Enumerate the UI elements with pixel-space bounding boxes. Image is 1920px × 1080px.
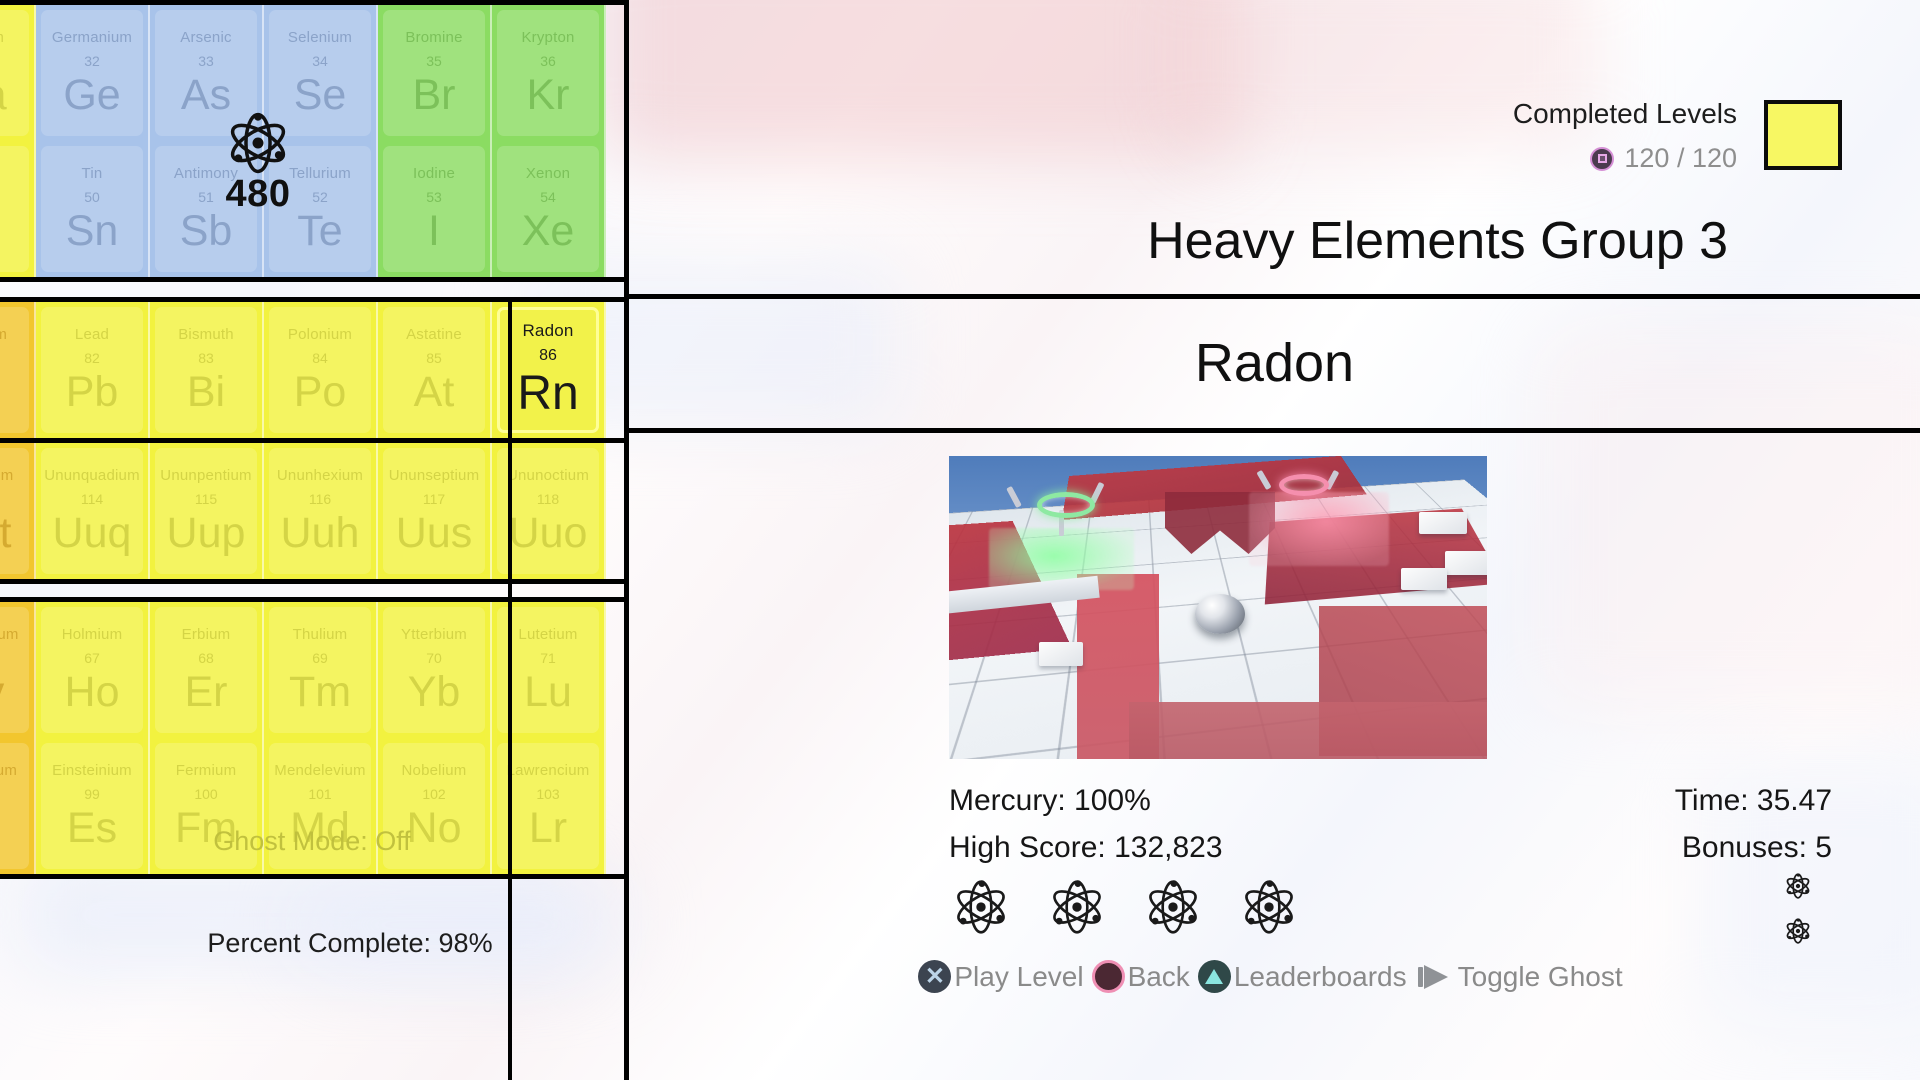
element-number: 70 <box>426 651 442 665</box>
element-name: Lead <box>75 327 109 342</box>
level-preview-thumbnail[interactable] <box>949 456 1487 759</box>
element-number: 114 <box>81 492 103 506</box>
earned-atom-icon <box>1143 877 1203 942</box>
ps-square-button-icon <box>1590 147 1614 171</box>
element-number: 34 <box>312 54 328 68</box>
stat-high-score: High Score: 132,823 <box>949 833 1223 863</box>
element-band: Gallium31GaGermanium32GeArsenic33AsSelen… <box>0 0 624 282</box>
element-number: 82 <box>84 351 100 365</box>
earned-atom-icon <box>1239 877 1299 942</box>
stat-time: Time: 35.47 <box>1675 786 1832 816</box>
completed-levels-count: 120 / 120 <box>1624 145 1737 172</box>
element-cell-es[interactable]: Einsteinium99Es <box>36 738 150 874</box>
element-name: Xenon <box>526 166 570 181</box>
element-number: 36 <box>540 54 556 68</box>
element-symbol: Xe <box>522 210 575 253</box>
element-number: 115 <box>195 492 217 506</box>
preview-pink-ring <box>1279 474 1329 496</box>
preview-floating-cube <box>1419 512 1467 534</box>
element-number: 50 <box>84 190 100 204</box>
element-symbol: Se <box>294 74 347 117</box>
element-number: 100 <box>194 787 217 801</box>
prompt-label: Play Level <box>954 963 1083 991</box>
cross-button-icon: ✕ <box>918 960 951 993</box>
element-name: Ununseptium <box>389 468 480 483</box>
element-symbol: Fm <box>175 807 237 850</box>
element-name: Ununtrium <box>0 468 14 483</box>
element-symbol: Dy <box>0 671 4 714</box>
element-name: Californium <box>0 763 17 778</box>
element-cell-te[interactable]: Tellurium52Te <box>264 141 378 277</box>
element-cell-ho[interactable]: Holmium67Ho <box>36 602 150 738</box>
element-cell-ge[interactable]: Germanium32Ge <box>36 5 150 141</box>
element-number: 116 <box>309 492 331 506</box>
element-row: Ununtrium113UutUnunquadium114UuqUnunpent… <box>0 443 624 579</box>
element-cell-fm[interactable]: Fermium100Fm <box>150 738 264 874</box>
element-cell-se[interactable]: Selenium34Se <box>264 5 378 141</box>
element-symbol: Sn <box>66 210 119 253</box>
preview-tile-block <box>1129 702 1487 759</box>
element-cell-pb[interactable]: Lead82Pb <box>36 302 150 438</box>
element-cell-md[interactable]: Mendelevium101Md <box>264 738 378 874</box>
element-number: 35 <box>426 54 442 68</box>
earned-atoms-row <box>951 877 1299 942</box>
element-symbol: Ge <box>63 74 120 117</box>
atom-icon <box>1143 877 1203 937</box>
group-title: Heavy Elements Group 3 <box>1147 215 1728 267</box>
element-symbol: Pb <box>66 371 119 414</box>
element-row: Californium98CfEinsteinium99EsFermium100… <box>0 738 624 874</box>
element-cell-ga[interactable]: Gallium31Ga <box>0 5 36 141</box>
element-name: Krypton <box>521 30 574 45</box>
element-cell-at[interactable]: Astatine85At <box>378 302 492 438</box>
prompt-back[interactable]: Back <box>1092 960 1190 993</box>
preview-floating-cube <box>1401 568 1447 590</box>
prompt-toggle-ghost[interactable]: Toggle Ghost <box>1415 963 1623 991</box>
element-number: 69 <box>312 651 328 665</box>
element-cell-uup[interactable]: Ununpentium115Uup <box>150 443 264 579</box>
atom-icon <box>1239 877 1299 937</box>
element-number: 84 <box>312 351 328 365</box>
element-number: 102 <box>422 787 445 801</box>
element-cell-kr[interactable]: Krypton36Kr <box>492 5 606 141</box>
element-number: 51 <box>198 190 214 204</box>
header-divider-top <box>629 294 1920 299</box>
element-cell-bi[interactable]: Bismuth83Bi <box>150 302 264 438</box>
element-symbol: Er <box>185 671 228 714</box>
stat-bonuses: Bonuses: 5 <box>1682 833 1832 863</box>
element-name: Tin <box>82 166 103 181</box>
element-cell-xe[interactable]: Xenon54Xe <box>492 141 606 277</box>
element-cell-sb[interactable]: Antimony51Sb <box>150 141 264 277</box>
element-cell-in[interactable]: Indium49In <box>0 141 36 277</box>
element-cell-tl[interactable]: Thallium81Tl <box>0 302 36 438</box>
button-prompt-bar: ✕Play LevelBackLeaderboardsToggle Ghost <box>629 960 1920 993</box>
element-cell-uuh[interactable]: Ununhexium116Uuh <box>264 443 378 579</box>
element-symbol: Uus <box>396 512 472 555</box>
element-number: 103 <box>536 787 559 801</box>
header-divider-bottom <box>629 428 1920 433</box>
triangle-button-icon <box>1198 960 1231 993</box>
element-band: Thallium81TlLead82PbBismuth83BiPolonium8… <box>0 297 624 443</box>
element-name: Thallium <box>0 327 7 342</box>
element-cell-yb[interactable]: Ytterbium70Yb <box>378 602 492 738</box>
element-symbol: Uuh <box>281 512 360 555</box>
element-symbol: Sb <box>180 210 233 253</box>
prompt-label: Toggle Ghost <box>1458 963 1623 991</box>
completed-levels-block: Completed Levels 120 / 120 <box>1513 100 1737 172</box>
element-symbol: As <box>181 74 231 117</box>
element-cell-sn[interactable]: Tin50Sn <box>36 141 150 277</box>
element-number: 67 <box>84 651 100 665</box>
atom-icon <box>1784 872 1812 900</box>
element-number: 33 <box>198 54 214 68</box>
element-number: 86 <box>539 348 557 364</box>
element-number: 99 <box>84 787 100 801</box>
element-number: 118 <box>537 492 559 506</box>
element-name: Fermium <box>176 763 237 778</box>
panel-divider <box>624 0 629 1080</box>
completed-levels-count-row: 120 / 120 <box>1513 145 1737 172</box>
element-band: Ununtrium113UutUnunquadium114UuqUnunpent… <box>0 438 624 584</box>
element-symbol: Te <box>297 210 342 253</box>
element-cell-no[interactable]: Nobelium102No <box>378 738 492 874</box>
completed-levels-label: Completed Levels <box>1513 100 1737 128</box>
element-name: Holmium <box>62 627 123 642</box>
element-cell-i[interactable]: Iodine53I <box>378 141 492 277</box>
element-name: Thulium <box>293 627 348 642</box>
element-name: Gallium <box>0 30 4 45</box>
element-symbol: Md <box>290 807 350 850</box>
element-row: Gallium31GaGermanium32GeArsenic33AsSelen… <box>0 5 624 141</box>
element-row: Dysprosium66DyHolmium67HoErbium68ErThuli… <box>0 602 624 738</box>
element-symbol: Ga <box>0 74 7 117</box>
element-number: 52 <box>312 190 328 204</box>
element-cell-po[interactable]: Polonium84Po <box>264 302 378 438</box>
element-symbol: I <box>428 210 440 253</box>
prompt-leaderboards[interactable]: Leaderboards <box>1198 960 1407 993</box>
element-band: Dysprosium66DyHolmium67HoErbium68ErThuli… <box>0 597 624 879</box>
element-row: Thallium81TlLead82PbBismuth83BiPolonium8… <box>0 302 624 438</box>
element-number: 54 <box>540 190 556 204</box>
element-symbol: Uup <box>167 512 246 555</box>
element-number: 83 <box>198 351 214 365</box>
element-name: Lutetium <box>518 627 577 642</box>
element-name: Iodine <box>413 166 455 181</box>
element-symbol: Uuo <box>509 512 588 555</box>
bonus-atom-icon <box>1784 917 1812 950</box>
element-number: 117 <box>423 492 445 506</box>
element-symbol: Lu <box>524 671 572 714</box>
game-level-select-screen: Gallium31GaGermanium32GeArsenic33AsSelen… <box>0 0 1920 1080</box>
element-number: 71 <box>540 651 556 665</box>
element-name: Ununhexium <box>277 468 363 483</box>
circle-button-icon <box>1092 960 1125 993</box>
element-symbol: No <box>407 807 462 850</box>
element-symbol: Lr <box>529 807 567 850</box>
element-row: Indium49InTin50SnAntimony51SbTellurium52… <box>0 141 624 277</box>
element-name: Ununquadium <box>44 468 140 483</box>
element-name: Ununpentium <box>160 468 251 483</box>
element-symbol: Es <box>67 807 117 850</box>
element-symbol: Br <box>413 74 456 117</box>
stat-mercury: Mercury: 100% <box>949 786 1151 816</box>
element-symbol: Ho <box>65 671 120 714</box>
panel-divider-inner <box>508 297 512 1080</box>
prompt-label: Leaderboards <box>1234 963 1407 991</box>
element-symbol: Po <box>294 371 347 414</box>
preview-marble-ball <box>1195 594 1245 634</box>
element-name: Lawrencium <box>507 763 590 778</box>
element-name: Ytterbium <box>401 627 467 642</box>
element-symbol: Tm <box>289 671 351 714</box>
element-cell-tm[interactable]: Thulium69Tm <box>264 602 378 738</box>
element-title: Radon <box>629 336 1920 390</box>
element-symbol: At <box>414 371 455 414</box>
element-name: Einsteinium <box>52 763 132 778</box>
element-name: Bromine <box>405 30 462 45</box>
preview-floating-cube <box>1039 642 1083 666</box>
level-detail-panel: Completed Levels 120 / 120 Heavy Element… <box>629 0 1920 1080</box>
element-cell-uuq[interactable]: Ununquadium114Uuq <box>36 443 150 579</box>
element-name: Astatine <box>406 327 462 342</box>
bonus-atoms-column <box>1784 872 1812 950</box>
preview-floating-cube <box>1445 551 1487 575</box>
element-name: Antimony <box>174 166 238 181</box>
preview-pink-glow <box>1249 492 1389 566</box>
bonus-atom-icon <box>1784 872 1812 905</box>
element-cell-br[interactable]: Bromine35Br <box>378 5 492 141</box>
earned-atom-icon <box>1047 877 1107 942</box>
element-cell-er[interactable]: Erbium68Er <box>150 602 264 738</box>
element-symbol: Rn <box>517 370 578 418</box>
element-number: 32 <box>84 54 100 68</box>
element-symbol: Uut <box>0 512 11 555</box>
element-cell-uus[interactable]: Ununseptium117Uus <box>378 443 492 579</box>
preview-green-ring <box>1037 492 1095 518</box>
element-cell-cf[interactable]: Californium98Cf <box>0 738 36 874</box>
element-name: Nobelium <box>402 763 467 778</box>
prompt-label: Back <box>1128 963 1190 991</box>
element-name: Bismuth <box>178 327 234 342</box>
element-name: Dysprosium <box>0 627 19 642</box>
element-name: Mendelevium <box>274 763 365 778</box>
element-number: 101 <box>308 787 331 801</box>
element-symbol: Bi <box>187 371 225 414</box>
element-number: 68 <box>198 651 214 665</box>
element-name: Tellurium <box>289 166 351 181</box>
element-name: Radon <box>522 322 573 339</box>
element-name: Arsenic <box>180 30 231 45</box>
level-color-swatch <box>1764 100 1842 170</box>
earned-atom-icon <box>951 877 1011 942</box>
ghost-toggle-icon <box>1415 964 1451 990</box>
atom-icon <box>1047 877 1107 937</box>
element-number: 85 <box>426 351 442 365</box>
element-name: Selenium <box>288 30 352 45</box>
percent-complete-label: Percent Complete: 98% <box>0 928 700 959</box>
element-symbol: Yb <box>408 671 461 714</box>
element-symbol: Uuq <box>53 512 132 555</box>
atom-icon <box>951 877 1011 937</box>
element-name: Ununoctium <box>507 468 589 483</box>
prompt-play-level[interactable]: ✕Play Level <box>918 960 1083 993</box>
periodic-table-panel[interactable]: Gallium31GaGermanium32GeArsenic33AsSelen… <box>0 0 624 1080</box>
element-name: Polonium <box>288 327 352 342</box>
element-number: 53 <box>426 190 442 204</box>
element-cell-uut[interactable]: Ununtrium113Uut <box>0 443 36 579</box>
element-name: Germanium <box>52 30 132 45</box>
element-name: Indium <box>0 166 1 181</box>
element-cell-as[interactable]: Arsenic33As <box>150 5 264 141</box>
element-name: Erbium <box>182 627 231 642</box>
atom-icon <box>1784 917 1812 945</box>
element-symbol: Kr <box>527 74 570 117</box>
element-cell-dy[interactable]: Dysprosium66Dy <box>0 602 36 738</box>
